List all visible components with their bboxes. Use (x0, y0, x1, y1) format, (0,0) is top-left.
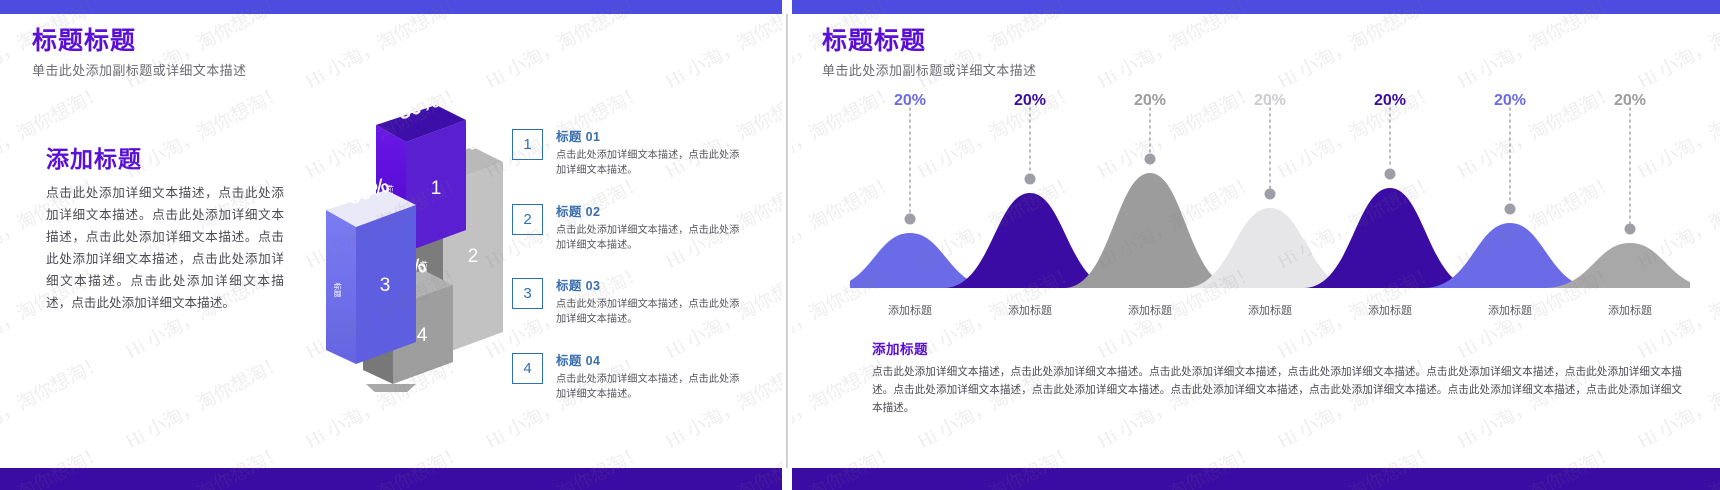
curve-percent: 20% (1330, 92, 1450, 118)
leader-dot (1505, 204, 1516, 215)
leader-dot (1025, 174, 1036, 185)
left-slide-header: 标题标题 单击此处添加副标题或详细文本描述 (32, 28, 246, 79)
page-title: 标题标题 (822, 28, 1036, 56)
watermark-text: Hi 小淘，淘你想淘！ (1632, 0, 1720, 94)
list-item-title: 标题 02 (556, 201, 744, 220)
leader-dot (1385, 169, 1396, 180)
bottom-text-block: 添加标题 点击此处添加详细文本描述，点击此处添加详细文本描述。点击此处添加详细文… (872, 338, 1682, 418)
list-item-desc: 点击此处添加详细文本描述，点击此处添加详细文本描述。 (556, 223, 744, 254)
svg-text:4: 4 (417, 325, 428, 346)
watermark-text: Hi 小淘，淘你想淘！ (1452, 0, 1620, 94)
bottom-accent-bar (0, 468, 782, 490)
slide-deck: 标题标题 单击此处添加副标题或详细文本描述 添加标题 点击此处添加详细文本描述，… (0, 0, 1720, 490)
bell-curve (1304, 188, 1477, 288)
svg-text:3: 3 (380, 275, 391, 296)
page-title: 标题标题 (32, 28, 246, 56)
list-item-title: 标题 01 (556, 126, 744, 145)
leader-dot (1145, 154, 1156, 165)
bell-curve (1064, 173, 1237, 288)
watermark-text: Hi 小淘，淘你想淘！ (480, 0, 648, 94)
top-accent-bar (792, 0, 1720, 14)
slide-left: 标题标题 单击此处添加副标题或详细文本描述 添加标题 点击此处添加详细文本描述，… (0, 0, 782, 490)
list-item-desc: 点击此处添加详细文本描述，点击此处添加详细文本描述。 (556, 297, 744, 328)
curve-category-label: 添加标题 (1570, 302, 1690, 318)
list-item-title: 标题 03 (556, 275, 744, 294)
watermark-text: Hi 小淘，淘你想淘！ (1092, 0, 1260, 94)
lead-text-block: 添加标题 点击此处添加详细文本描述，点击此处添加详细文本描述。点击此处添加详细文… (46, 140, 284, 314)
slide-divider (786, 14, 788, 468)
right-slide-header: 标题标题 单击此处添加副标题或详细文本描述 (822, 28, 1036, 79)
list-item[interactable]: 3 标题 03 点击此处添加详细文本描述，点击此处添加详细文本描述。 (512, 275, 744, 328)
leader-dot (905, 214, 916, 225)
bar-3: 50% 标题 3 (326, 174, 416, 364)
page-subtitle: 单击此处添加副标题或详细文本描述 (822, 60, 1036, 79)
leader-dot (1625, 224, 1636, 235)
curve-percent-row: 20% 20% 20% 20% 20% 20% 20% (850, 92, 1690, 118)
isometric-bar-chart: 60% 标题 2 30% 标题 4 (288, 92, 518, 392)
list-item-desc: 点击此处添加详细文本描述，点击此处添加详细文本描述。 (556, 372, 744, 403)
curve-category-label: 添加标题 (850, 302, 970, 318)
curve-category-label: 添加标题 (1090, 302, 1210, 318)
curve-category-label: 添加标题 (1210, 302, 1330, 318)
curve-percent: 20% (850, 92, 970, 118)
page-subtitle: 单击此处添加副标题或详细文本描述 (32, 60, 246, 79)
svg-text:2: 2 (468, 246, 479, 267)
curve-percent: 20% (1570, 92, 1690, 118)
bar-chart-svg: 60% 标题 2 30% 标题 4 (288, 92, 518, 392)
watermark-text: Hi 小淘，淘你想淘！ (300, 0, 468, 94)
curve-percent: 20% (1450, 92, 1570, 118)
watermark-text: Hi 小淘，淘你想淘！ (120, 347, 288, 453)
svg-text:标题: 标题 (333, 283, 343, 298)
bottom-title: 添加标题 (872, 338, 1682, 358)
list-item-title: 标题 04 (556, 350, 744, 369)
curve-percent: 20% (1090, 92, 1210, 118)
bottom-accent-bar (792, 468, 1720, 490)
watermark-text: Hi 小淘，淘你想淘！ (660, 0, 782, 94)
watermark-text: Hi 小淘，淘你想淘！ (1272, 0, 1440, 94)
curve-category-label: 添加标题 (1450, 302, 1570, 318)
curve-category-label: 添加标题 (1330, 302, 1450, 318)
top-accent-bar (0, 0, 782, 14)
lead-body: 点击此处添加详细文本描述，点击此处添加详细文本描述。点击此处添加详细文本描述，点… (46, 182, 284, 314)
svg-text:1: 1 (431, 178, 442, 199)
bell-curve-svg (850, 88, 1690, 288)
list-item[interactable]: 1 标题 01 点击此处添加详细文本描述，点击此处添加详细文本描述。 (512, 126, 744, 179)
curve-category-label: 添加标题 (970, 302, 1090, 318)
bell-curve-chart (850, 88, 1690, 288)
list-item[interactable]: 4 标题 04 点击此处添加详细文本描述，点击此处添加详细文本描述。 (512, 350, 744, 403)
bottom-body: 点击此处添加详细文本描述，点击此处添加详细文本描述。点击此处添加详细文本描述，点… (872, 363, 1682, 418)
lead-title: 添加标题 (46, 140, 284, 174)
list-item-desc: 点击此处添加详细文本描述，点击此处添加详细文本描述。 (556, 148, 744, 179)
watermark-text: Hi 小淘，淘你想淘！ (0, 347, 108, 453)
leader-dot (1265, 189, 1276, 200)
curve-percent: 20% (1210, 92, 1330, 118)
slide-right: 标题标题 单击此处添加副标题或详细文本描述 20% 20% 20% 20% 20… (792, 0, 1720, 490)
numbered-list: 1 标题 01 点击此处添加详细文本描述，点击此处添加详细文本描述。 2 标题 … (512, 126, 744, 424)
curve-percent: 20% (970, 92, 1090, 118)
curve-label-row: 添加标题 添加标题 添加标题 添加标题 添加标题 添加标题 添加标题 (850, 302, 1690, 318)
list-item[interactable]: 2 标题 02 点击此处添加详细文本描述，点击此处添加详细文本描述。 (512, 201, 744, 254)
